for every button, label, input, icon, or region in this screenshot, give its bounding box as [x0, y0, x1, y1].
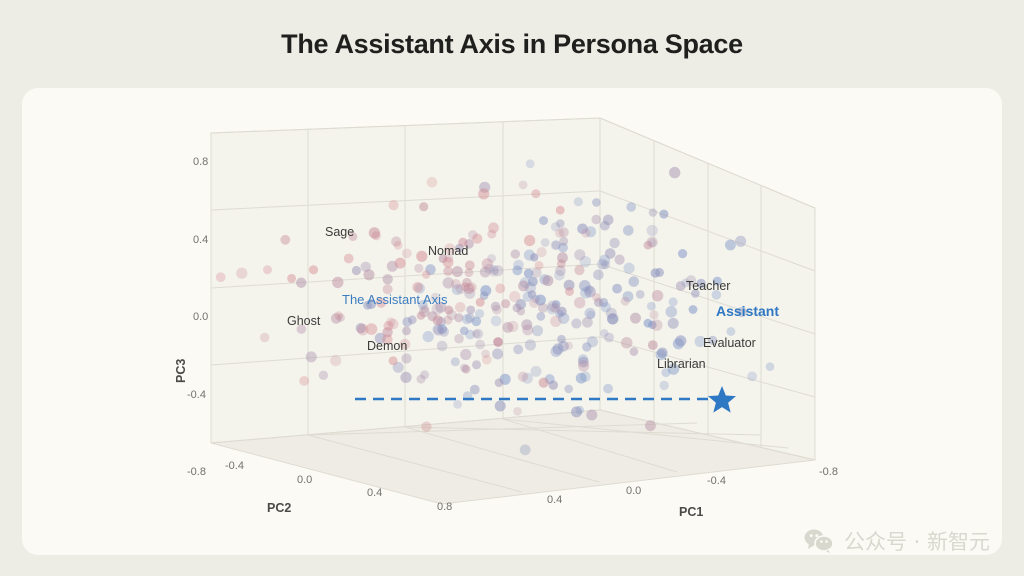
tick-pc2-2: 0.4 [367, 487, 382, 499]
tick-pc3-3: -0.4 [187, 389, 206, 401]
persona-label-demon: Demon [367, 339, 407, 353]
persona-label-librarian: Librarian [657, 357, 706, 371]
page-title: The Assistant Axis in Persona Space [0, 0, 1024, 88]
persona-label-sage: Sage [325, 225, 354, 239]
scatter-plot-3d: PC3 PC2 PC1 0.8 0.4 0.0 -0.4 -0.8 -0.4 0… [22, 88, 1002, 555]
tick-pc2-1: 0.0 [297, 474, 312, 486]
assistant-point-label: Assistant [716, 303, 779, 319]
slide-root: The Assistant Axis in Persona Space [0, 0, 1024, 576]
persona-label-teacher: Teacher [686, 279, 730, 293]
persona-label-evaluator: Evaluator [703, 336, 756, 350]
tick-pc3-0: 0.8 [193, 156, 208, 168]
chart-card: PC3 PC2 PC1 0.8 0.4 0.0 -0.4 -0.8 -0.4 0… [22, 88, 1002, 555]
persona-label-nomad: Nomad [428, 244, 468, 258]
tick-pc3-2: 0.0 [193, 311, 208, 323]
watermark: 公众号 · 新智元 [804, 526, 990, 556]
tick-pc1-3: -0.8 [819, 466, 838, 478]
assistant-axis-label: The Assistant Axis [342, 292, 448, 307]
axis-title-pc3: PC3 [174, 359, 188, 383]
tick-pc1-2: -0.4 [707, 475, 726, 487]
tick-pc1-1: 0.0 [626, 485, 641, 497]
tick-pc3-4: -0.8 [187, 466, 206, 478]
tick-pc1-0: 0.4 [547, 494, 562, 506]
axis-title-pc2: PC2 [267, 501, 291, 515]
tick-pc2-0: -0.4 [225, 460, 244, 472]
plot-canvas [22, 88, 1002, 555]
tick-pc2-3: 0.8 [437, 501, 452, 513]
watermark-text: 公众号 · 新智元 [844, 526, 990, 556]
persona-label-ghost: Ghost [287, 314, 320, 328]
axis-title-pc1: PC1 [679, 505, 703, 519]
wechat-icon [804, 528, 834, 554]
tick-pc3-1: 0.4 [193, 234, 208, 246]
